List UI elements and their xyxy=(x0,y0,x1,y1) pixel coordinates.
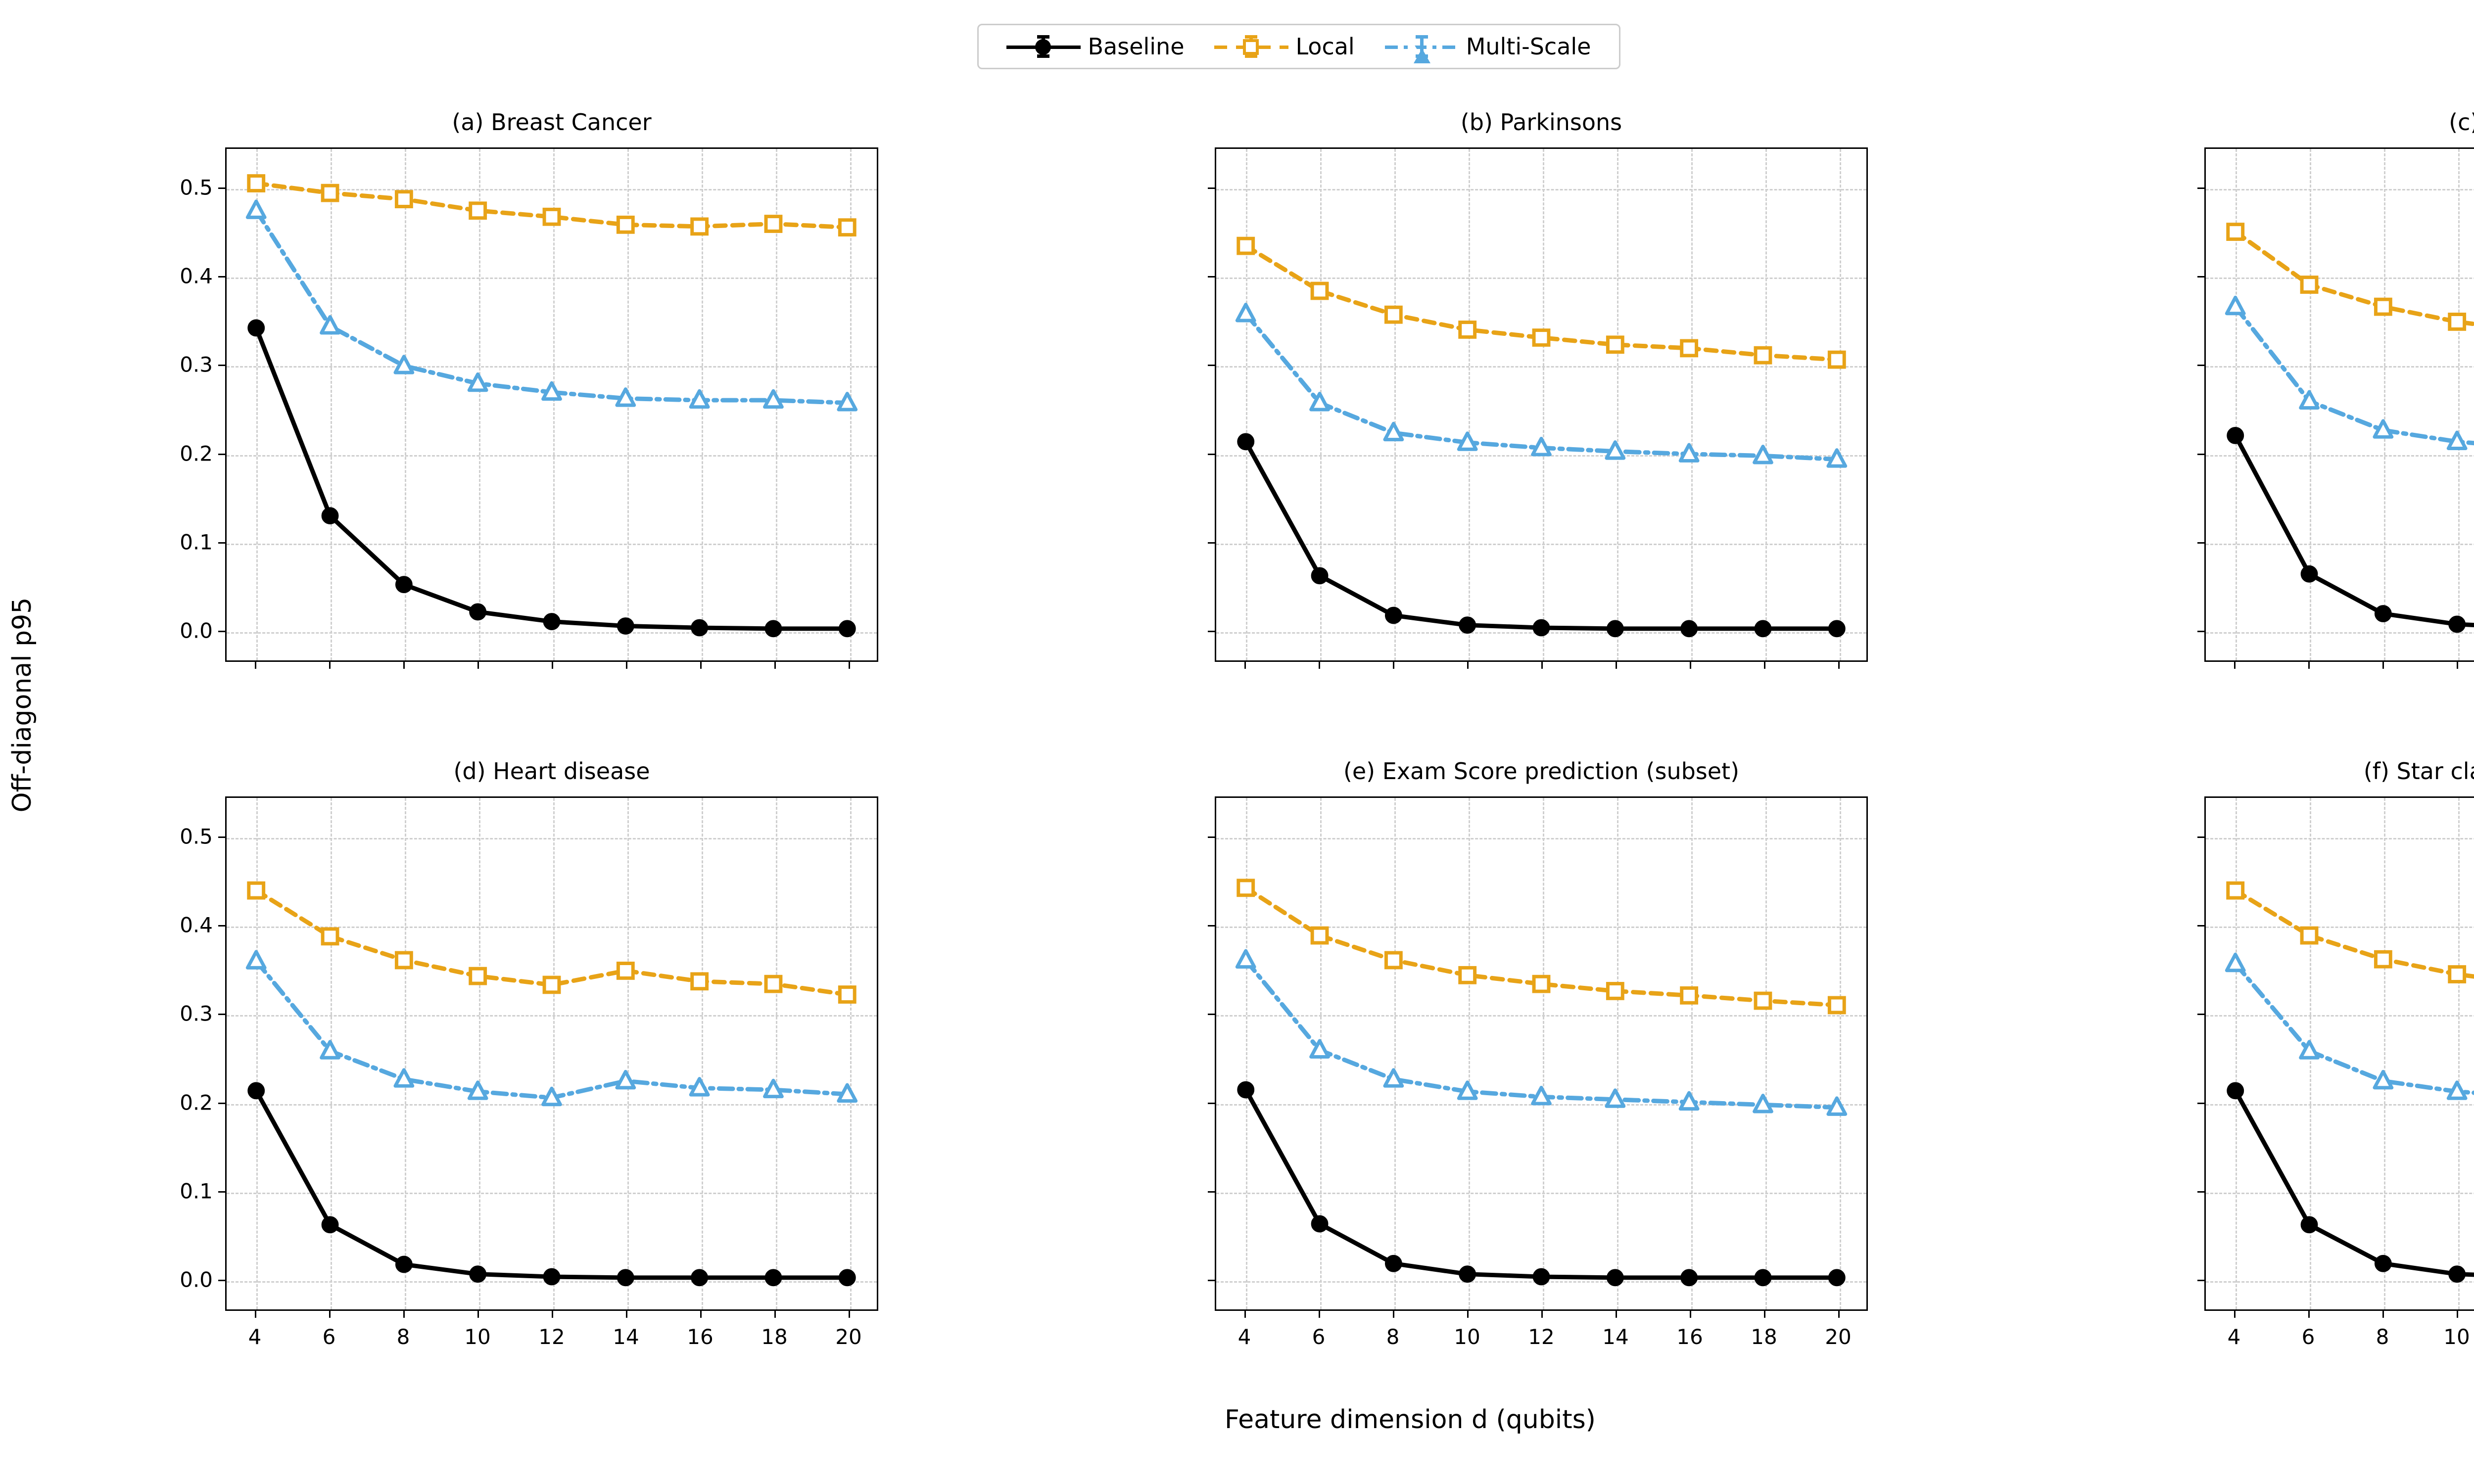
series-multi-scale xyxy=(2227,297,2474,463)
x-tick-mark xyxy=(255,662,256,669)
x-tick-label: 8 xyxy=(1386,1325,1400,1349)
data-point xyxy=(617,389,634,405)
data-point xyxy=(2450,617,2465,632)
data-point xyxy=(1682,988,1697,1003)
data-point xyxy=(618,964,633,978)
y-tick-mark xyxy=(218,836,225,838)
data-point xyxy=(840,621,855,636)
data-point xyxy=(1756,621,1770,636)
y-tick-mark xyxy=(1208,836,1215,838)
data-point xyxy=(1385,1070,1402,1086)
data-point xyxy=(1312,928,1327,943)
x-tick-mark xyxy=(1838,1311,1840,1318)
data-point xyxy=(2302,1217,2317,1232)
data-point xyxy=(2228,225,2243,239)
data-point xyxy=(396,953,411,968)
x-tick-label: 6 xyxy=(1312,1325,1326,1349)
y-tick-label: 0.2 xyxy=(131,1090,213,1114)
series-local xyxy=(249,176,855,235)
data-point xyxy=(766,1270,781,1285)
x-tick-mark xyxy=(2457,662,2458,669)
x-tick-mark xyxy=(2234,1311,2236,1318)
data-point xyxy=(249,1083,264,1098)
x-tick-mark xyxy=(849,1311,850,1318)
x-tick-label: 20 xyxy=(835,1325,861,1349)
series-baseline xyxy=(2228,1083,2474,1285)
y-tick-mark xyxy=(1208,454,1215,455)
series-local xyxy=(2228,225,2474,361)
data-point xyxy=(1312,283,1327,298)
y-tick-label: 0.0 xyxy=(131,619,213,643)
y-tick-mark xyxy=(218,1103,225,1104)
data-point xyxy=(2227,954,2244,970)
data-point xyxy=(1755,447,1772,463)
data-point xyxy=(766,217,781,232)
data-point xyxy=(544,977,559,992)
data-point xyxy=(2450,967,2465,982)
x-tick-label: 4 xyxy=(248,1325,262,1349)
data-point xyxy=(2228,428,2243,443)
data-point xyxy=(1460,323,1475,337)
data-point xyxy=(691,1079,708,1095)
data-point xyxy=(2376,952,2390,967)
data-point xyxy=(395,357,413,372)
legend-label-baseline: Baseline xyxy=(1088,33,1184,60)
data-point xyxy=(1534,1269,1549,1284)
data-point xyxy=(840,987,855,1002)
y-tick-mark xyxy=(218,542,225,544)
plot-area-a xyxy=(225,147,878,662)
series-baseline xyxy=(249,321,855,636)
data-point xyxy=(1756,1270,1770,1285)
data-point xyxy=(692,219,707,234)
data-point xyxy=(766,621,781,636)
x-tick-label: 16 xyxy=(1676,1325,1703,1349)
y-tick-mark xyxy=(1208,542,1215,544)
data-point xyxy=(249,883,264,898)
data-point xyxy=(1608,337,1622,352)
y-tick-mark xyxy=(1208,631,1215,632)
y-tick-mark xyxy=(2197,1014,2204,1015)
x-tick-mark xyxy=(477,662,479,669)
data-point xyxy=(469,374,486,390)
x-tick-mark xyxy=(2234,662,2236,669)
plot-area-b xyxy=(1215,147,1868,662)
y-tick-mark xyxy=(1208,1280,1215,1281)
x-tick-mark xyxy=(1616,1311,1617,1318)
y-tick-label: 0.3 xyxy=(131,1002,213,1026)
data-point xyxy=(2228,883,2243,898)
y-tick-mark xyxy=(2197,276,2204,278)
data-point xyxy=(2302,566,2317,581)
data-point xyxy=(2448,1082,2466,1098)
x-tick-mark xyxy=(700,662,702,669)
subplot-title-a: (a) Breast Cancer xyxy=(225,109,878,136)
y-tick-mark xyxy=(1208,925,1215,927)
data-point xyxy=(2227,297,2244,313)
data-point xyxy=(1385,423,1402,439)
data-point xyxy=(1460,968,1475,982)
y-tick-mark xyxy=(218,1191,225,1193)
subplot-d: (d) Heart disease4681012141618200.00.10.… xyxy=(47,758,898,1401)
x-tick-mark xyxy=(1244,1311,1246,1318)
legend-item-baseline[interactable]: Baseline xyxy=(1006,33,1184,60)
subplot-c: (c) Ionosphere xyxy=(2026,109,2474,752)
data-point xyxy=(323,509,337,523)
data-point xyxy=(2228,1083,2243,1098)
legend-marker-baseline xyxy=(1006,35,1081,58)
data-point xyxy=(1237,304,1254,320)
y-tick-label: 0.2 xyxy=(131,441,213,465)
x-tick-mark xyxy=(1467,662,1469,669)
x-tick-mark xyxy=(1319,662,1320,669)
legend-marker-local xyxy=(1214,35,1288,58)
series-baseline xyxy=(1238,434,1844,636)
y-tick-mark xyxy=(2197,365,2204,366)
data-point xyxy=(1828,1098,1846,1114)
legend-label-local: Local xyxy=(1295,33,1354,60)
x-tick-label: 14 xyxy=(1602,1325,1628,1349)
y-tick-label: 0.0 xyxy=(131,1268,213,1292)
y-tick-mark xyxy=(2197,454,2204,455)
data-point xyxy=(1238,434,1253,449)
x-tick-mark xyxy=(626,662,627,669)
subplot-title-c: (c) Ionosphere xyxy=(2204,109,2474,136)
series-local xyxy=(1238,881,1844,1013)
data-point xyxy=(1828,450,1846,466)
data-point xyxy=(1682,1270,1697,1285)
series-canvas-e xyxy=(1216,798,1866,1309)
x-tick-mark xyxy=(774,1311,776,1318)
legend: Baseline Local Multi-Scale xyxy=(977,24,1620,69)
y-tick-label: 0.4 xyxy=(131,264,213,288)
y-tick-mark xyxy=(218,454,225,455)
data-point xyxy=(840,220,855,235)
x-tick-mark xyxy=(329,1311,331,1318)
data-point xyxy=(1460,618,1475,633)
data-point xyxy=(1755,1096,1772,1112)
data-point xyxy=(2302,928,2317,943)
data-point xyxy=(2376,299,2390,314)
data-point xyxy=(249,176,264,191)
subplot-b: (b) Parkinsons xyxy=(1037,109,1888,752)
y-tick-mark xyxy=(1208,187,1215,189)
x-tick-mark xyxy=(1616,662,1617,669)
x-tick-mark xyxy=(774,662,776,669)
data-point xyxy=(1829,352,1844,367)
data-point xyxy=(2448,432,2466,448)
data-point xyxy=(2450,1267,2465,1282)
data-point xyxy=(1534,330,1549,345)
subplot-title-d: (d) Heart disease xyxy=(225,758,878,785)
series-canvas-b xyxy=(1216,149,1866,660)
subplot-title-f: (f) Star classification (subset) xyxy=(2204,758,2474,785)
data-point xyxy=(1460,1267,1475,1282)
data-point xyxy=(323,1217,337,1232)
data-point xyxy=(471,203,485,218)
x-tick-label: 18 xyxy=(1751,1325,1777,1349)
x-tick-mark xyxy=(403,1311,405,1318)
x-tick-mark xyxy=(1690,1311,1691,1318)
y-tick-label: 0.5 xyxy=(131,824,213,848)
data-point xyxy=(1608,621,1622,636)
data-point xyxy=(1756,993,1770,1008)
y-axis-title: Off-diagonal p95 xyxy=(7,458,37,952)
data-point xyxy=(1312,568,1327,583)
data-point xyxy=(323,929,337,944)
x-tick-mark xyxy=(1764,662,1765,669)
data-point xyxy=(692,1270,707,1285)
x-tick-mark xyxy=(403,662,405,669)
y-tick-mark xyxy=(218,187,225,189)
x-tick-mark xyxy=(329,662,331,669)
data-point xyxy=(1534,976,1549,991)
y-tick-mark xyxy=(2197,1103,2204,1104)
x-tick-label: 12 xyxy=(538,1325,565,1349)
x-tick-mark xyxy=(552,1311,553,1318)
series-local xyxy=(2228,883,2474,1005)
y-tick-mark xyxy=(2197,1191,2204,1193)
x-axis-title: Feature dimension d (qubits) xyxy=(0,1405,2474,1435)
x-tick-mark xyxy=(849,662,850,669)
x-tick-mark xyxy=(2457,1311,2458,1318)
data-point xyxy=(618,619,633,634)
subplot-e: (e) Exam Score prediction (subset)468101… xyxy=(1037,758,1888,1401)
legend-label-multi-scale: Multi-Scale xyxy=(1466,33,1591,60)
data-point xyxy=(543,383,561,399)
y-tick-mark xyxy=(218,925,225,927)
x-tick-mark xyxy=(1838,662,1840,669)
y-tick-label: 0.1 xyxy=(131,530,213,554)
x-tick-mark xyxy=(2308,662,2310,669)
x-tick-mark xyxy=(1393,662,1394,669)
series-canvas-a xyxy=(227,149,877,660)
subplot-f: (f) Star classification (subset)46810121… xyxy=(2026,758,2474,1401)
plot-area-f xyxy=(2204,796,2474,1311)
x-tick-mark xyxy=(700,1311,702,1318)
data-point xyxy=(544,614,559,629)
data-point xyxy=(247,201,265,217)
data-point xyxy=(840,1270,855,1285)
data-point xyxy=(1386,307,1401,322)
x-tick-label: 6 xyxy=(323,1325,336,1349)
data-point xyxy=(1607,442,1624,458)
y-tick-mark xyxy=(2197,187,2204,189)
data-point xyxy=(543,1088,561,1104)
data-point xyxy=(1756,348,1770,363)
data-point xyxy=(1386,1256,1401,1271)
x-tick-mark xyxy=(552,662,553,669)
data-point xyxy=(544,209,559,224)
x-tick-mark xyxy=(1319,1311,1320,1318)
data-point xyxy=(1607,1090,1624,1106)
data-point xyxy=(469,1082,486,1098)
x-tick-mark xyxy=(626,1311,627,1318)
data-point xyxy=(1237,951,1254,967)
y-tick-mark xyxy=(218,631,225,632)
x-tick-mark xyxy=(1393,1311,1394,1318)
data-point xyxy=(471,604,485,619)
data-point xyxy=(1682,341,1697,356)
data-point xyxy=(1608,984,1622,999)
data-point xyxy=(395,1070,413,1086)
series-canvas-d xyxy=(227,798,877,1309)
data-point xyxy=(618,1270,633,1285)
x-tick-mark xyxy=(1764,1311,1765,1318)
x-tick-label: 10 xyxy=(1454,1325,1480,1349)
x-tick-label: 8 xyxy=(2376,1325,2389,1349)
data-point xyxy=(691,391,708,407)
data-point xyxy=(617,1071,634,1087)
y-tick-mark xyxy=(2197,631,2204,632)
legend-item-multi-scale[interactable]: Multi-Scale xyxy=(1385,33,1591,60)
data-point xyxy=(2376,606,2390,621)
data-point xyxy=(692,974,707,989)
data-point xyxy=(1608,1270,1622,1285)
x-tick-label: 4 xyxy=(1238,1325,1251,1349)
x-tick-label: 6 xyxy=(2302,1325,2315,1349)
series-baseline xyxy=(2228,428,2474,636)
data-point xyxy=(323,185,337,200)
data-point xyxy=(765,1080,782,1096)
series-multi-scale xyxy=(2227,954,2474,1110)
data-point xyxy=(1682,621,1697,636)
data-point xyxy=(1238,238,1253,253)
data-point xyxy=(396,1257,411,1272)
data-point xyxy=(2376,1256,2390,1271)
y-tick-mark xyxy=(1208,1103,1215,1104)
legend-marker-multi-scale xyxy=(1385,35,1459,58)
subplot-title-b: (b) Parkinsons xyxy=(1215,109,1868,136)
data-point xyxy=(1238,881,1253,895)
y-tick-label: 0.3 xyxy=(131,353,213,377)
data-point xyxy=(471,969,485,983)
data-point xyxy=(1459,433,1476,449)
x-tick-label: 8 xyxy=(397,1325,410,1349)
x-tick-mark xyxy=(2382,1311,2384,1318)
x-tick-mark xyxy=(1541,1311,1543,1318)
data-point xyxy=(2375,1071,2392,1087)
y-tick-mark xyxy=(218,1280,225,1281)
x-tick-mark xyxy=(2382,662,2384,669)
x-tick-label: 16 xyxy=(687,1325,713,1349)
data-point xyxy=(1533,438,1550,454)
data-point xyxy=(1829,998,1844,1013)
data-point xyxy=(839,1085,856,1101)
y-tick-mark xyxy=(1208,1014,1215,1015)
data-point xyxy=(471,1267,485,1282)
data-point xyxy=(1829,621,1844,636)
y-tick-label: 0.5 xyxy=(131,175,213,199)
x-tick-mark xyxy=(255,1311,256,1318)
plot-area-c xyxy=(2204,147,2474,662)
y-tick-mark xyxy=(218,276,225,278)
series-canvas-c xyxy=(2206,149,2474,660)
x-tick-label: 12 xyxy=(1528,1325,1554,1349)
data-point xyxy=(1680,1093,1698,1109)
y-tick-mark xyxy=(1208,276,1215,278)
data-point xyxy=(618,217,633,232)
x-tick-mark xyxy=(1541,662,1543,669)
y-tick-mark xyxy=(2197,1280,2204,1281)
data-point xyxy=(1386,953,1401,968)
data-point xyxy=(839,394,856,410)
data-point xyxy=(2450,315,2465,329)
x-tick-mark xyxy=(2308,1311,2310,1318)
y-tick-mark xyxy=(2197,836,2204,838)
data-point xyxy=(1238,1082,1253,1097)
data-point xyxy=(1534,620,1549,635)
x-tick-label: 18 xyxy=(761,1325,787,1349)
data-point xyxy=(766,976,781,991)
x-tick-mark xyxy=(1467,1311,1469,1318)
plot-area-d xyxy=(225,796,878,1311)
legend-item-local[interactable]: Local xyxy=(1214,33,1354,60)
subplot-a: (a) Breast Cancer0.00.10.20.30.40.5 xyxy=(47,109,898,752)
data-point xyxy=(249,321,264,335)
figure-root: Baseline Local Multi-Scale (a) Breast Ca… xyxy=(0,0,2474,1484)
x-tick-mark xyxy=(477,1311,479,1318)
series-local xyxy=(249,883,855,1002)
y-tick-mark xyxy=(218,365,225,366)
data-point xyxy=(1680,445,1698,461)
y-tick-mark xyxy=(1208,1191,1215,1193)
data-point xyxy=(396,192,411,207)
data-point xyxy=(765,391,782,407)
series-local xyxy=(1238,238,1844,367)
data-point xyxy=(1829,1270,1844,1285)
data-point xyxy=(1386,608,1401,623)
data-point xyxy=(1459,1082,1476,1098)
y-tick-mark xyxy=(218,1014,225,1015)
x-tick-label: 10 xyxy=(2443,1325,2470,1349)
x-tick-mark xyxy=(1244,662,1246,669)
series-canvas-f xyxy=(2206,798,2474,1309)
x-tick-mark xyxy=(1690,662,1691,669)
data-point xyxy=(692,620,707,635)
x-tick-label: 20 xyxy=(1825,1325,1851,1349)
data-point xyxy=(396,577,411,592)
series-multi-scale xyxy=(247,952,856,1105)
y-tick-mark xyxy=(1208,365,1215,366)
x-tick-label: 10 xyxy=(464,1325,490,1349)
y-tick-mark xyxy=(2197,925,2204,927)
y-tick-label: 0.1 xyxy=(131,1179,213,1203)
data-point xyxy=(1312,1216,1327,1231)
plot-area-e xyxy=(1215,796,1868,1311)
data-point xyxy=(1533,1087,1550,1103)
data-point xyxy=(2302,278,2317,292)
subplot-title-e: (e) Exam Score prediction (subset) xyxy=(1215,758,1868,785)
x-tick-label: 4 xyxy=(2228,1325,2241,1349)
data-point xyxy=(2375,421,2392,437)
data-point xyxy=(544,1269,559,1284)
x-tick-label: 14 xyxy=(613,1325,639,1349)
series-baseline xyxy=(249,1083,855,1285)
data-point xyxy=(2301,392,2318,408)
data-point xyxy=(247,952,265,968)
y-tick-mark xyxy=(2197,542,2204,544)
y-tick-label: 0.4 xyxy=(131,913,213,937)
